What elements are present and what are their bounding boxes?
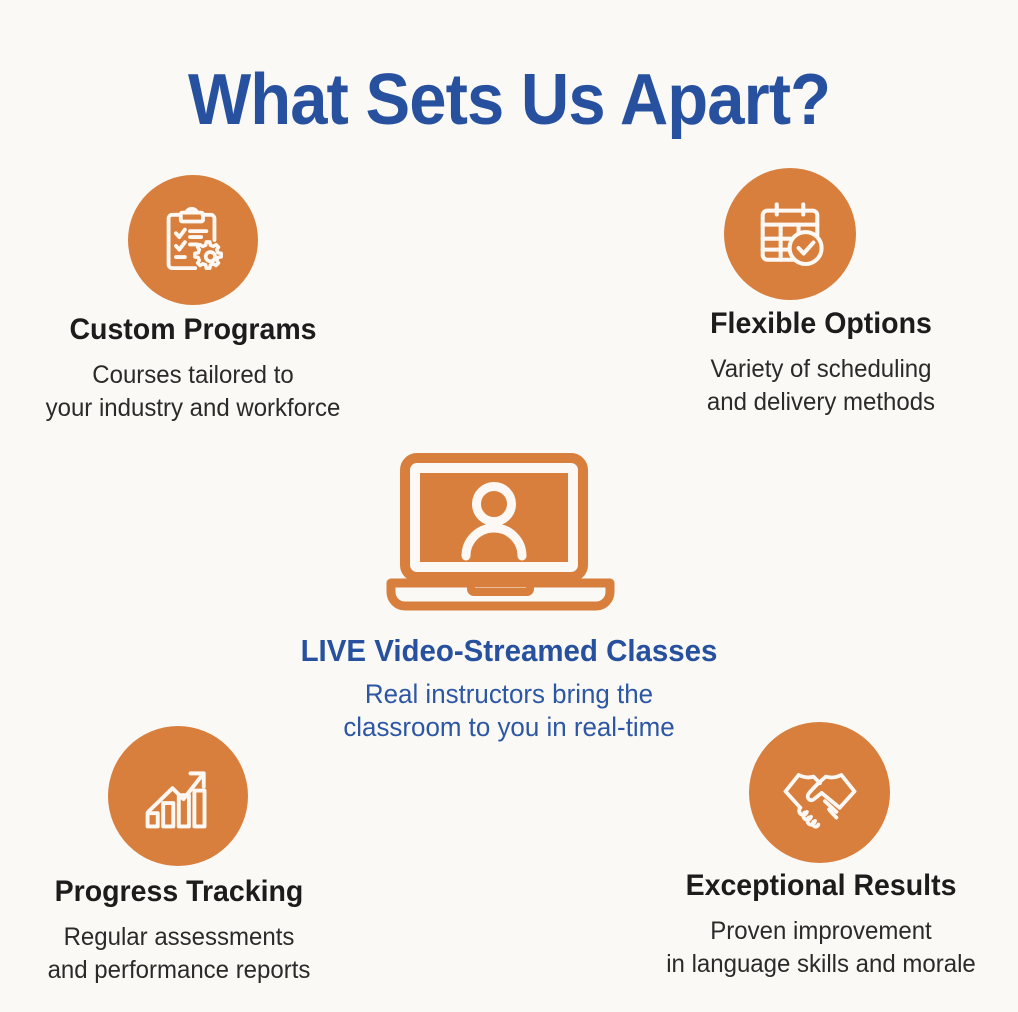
feature-title: LIVE Video-Streamed Classes <box>148 632 870 670</box>
feature-description-line: Regular assessments <box>7 921 351 954</box>
calendar-check-icon <box>724 168 856 300</box>
feature-description-line: in language skills and morale <box>632 948 1010 981</box>
feature-description: Real instructors bring the classroom to … <box>144 678 874 744</box>
feature-description: Variety of scheduling and delivery metho… <box>632 353 1010 419</box>
feature-title: Progress Tracking <box>9 874 349 910</box>
feature-title: Exceptional Results <box>634 868 1008 904</box>
feature-custom-programs: Custom Programs Courses tailored to your… <box>0 312 386 425</box>
feature-description-line: Real instructors bring the <box>144 678 874 711</box>
feature-description: Regular assessments and performance repo… <box>7 921 351 987</box>
page-title: What Sets Us Apart? <box>36 57 983 143</box>
feature-title: Flexible Options <box>634 306 1008 342</box>
feature-description-line: classroom to you in real-time <box>144 711 874 744</box>
feature-description-line: and performance reports <box>7 954 351 987</box>
clipboard-gear-icon <box>128 175 258 305</box>
feature-description-line: and delivery methods <box>632 386 1010 419</box>
feature-description: Proven improvement in language skills an… <box>632 915 1010 981</box>
feature-exceptional-results: Exceptional Results Proven improvement i… <box>624 868 1018 981</box>
laptop-person-icon <box>383 452 618 615</box>
feature-live-classes: LIVE Video-Streamed Classes Real instruc… <box>129 632 889 744</box>
infographic-canvas: What Sets Us Apart? <box>0 0 1018 1012</box>
feature-description-line: Proven improvement <box>632 915 1010 948</box>
feature-title: Custom Programs <box>10 312 377 348</box>
feature-description-line: Courses tailored to <box>8 359 379 392</box>
feature-description-line: your industry and workforce <box>8 392 379 425</box>
feature-description: Courses tailored to your industry and wo… <box>8 359 379 425</box>
feature-description-line: Variety of scheduling <box>632 353 1010 386</box>
growth-chart-icon <box>108 726 248 866</box>
feature-flexible-options: Flexible Options Variety of scheduling a… <box>624 306 1018 419</box>
handshake-icon <box>749 722 890 863</box>
feature-progress-tracking: Progress Tracking Regular assessments an… <box>0 874 358 987</box>
